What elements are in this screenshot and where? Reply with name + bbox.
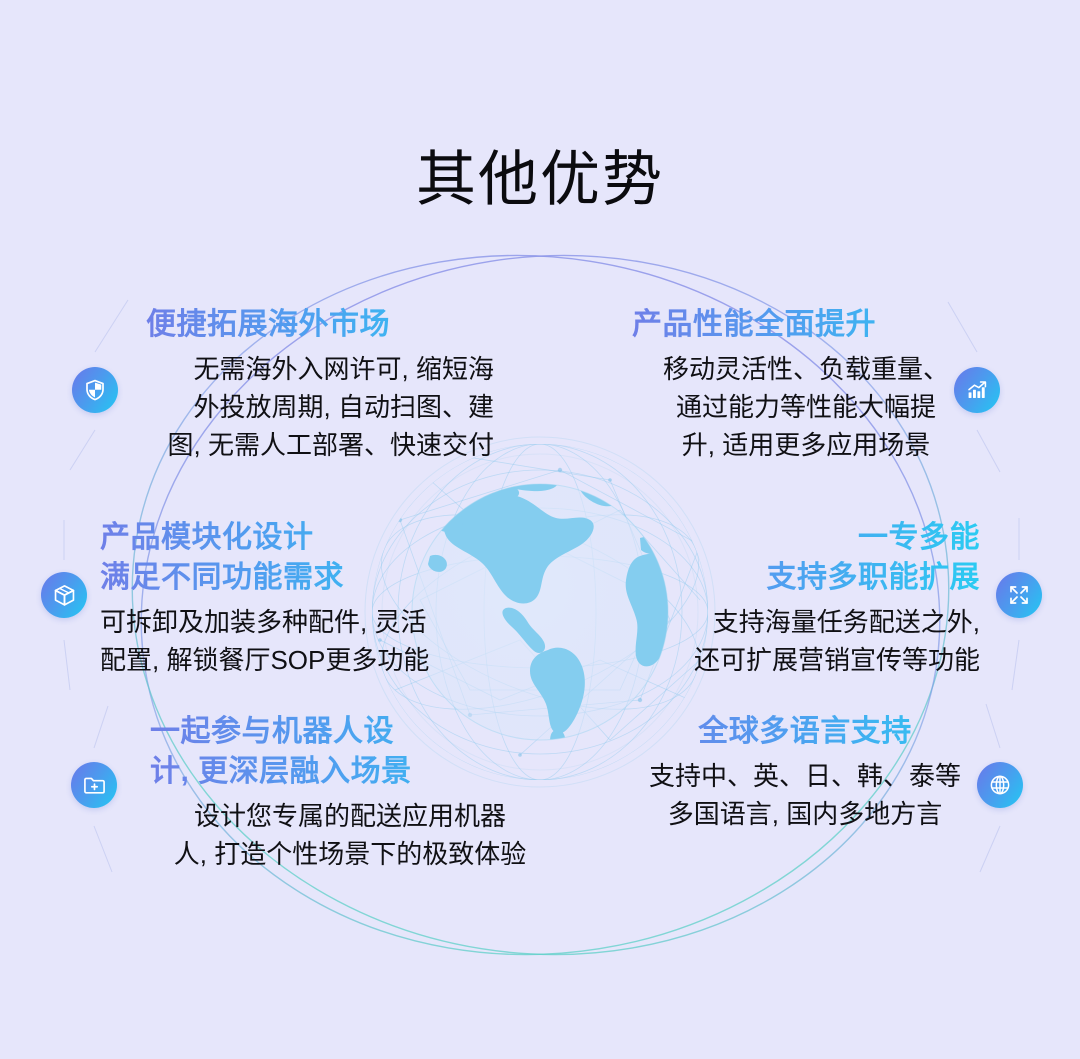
growth-chart-icon[interactable]	[954, 367, 1000, 413]
feature-heading-modular-line2: 满足不同功能需求	[100, 558, 460, 598]
feature-body-line: 升, 适用更多应用场景	[632, 426, 980, 464]
feature-body-codesign: 设计您专属的配送应用机器 人, 打造个性场景下的极致体验	[150, 797, 550, 873]
feature-block-performance: 产品性能全面提升 移动灵活性、负载重量、 通过能力等性能大幅提 升, 适用更多应…	[632, 305, 980, 464]
feature-body-line: 多国语言, 国内多地方言	[630, 795, 980, 833]
feature-heading-language: 全球多语言支持	[630, 712, 980, 752]
feature-block-multifunction: 一专多能 支持多职能扩展 支持海量任务配送之外, 还可扩展营销宣传等功能	[620, 518, 980, 679]
feature-body-line: 支持中、英、日、韩、泰等	[630, 757, 980, 795]
feature-body-line: 通过能力等性能大幅提	[632, 388, 980, 426]
feature-heading-multifunction-line1: 一专多能	[620, 518, 980, 558]
feature-body-line: 配置, 解锁餐厅SOP更多功能	[100, 641, 460, 679]
feature-block-modular: 产品模块化设计 满足不同功能需求 可拆卸及加装多种配件, 灵活 配置, 解锁餐厅…	[100, 518, 460, 679]
feature-heading-codesign-line1: 一起参与机器人设	[150, 712, 550, 752]
feature-body-line: 支持海量任务配送之外,	[620, 603, 980, 641]
infographic-canvas: 其他优势 便捷拓展海外市场 无需海外入网许可, 缩短海 外投放周期, 自动扫图、…	[0, 0, 1080, 1059]
feature-heading-modular-line1: 产品模块化设计	[100, 518, 460, 558]
feature-body-performance: 移动灵活性、负载重量、 通过能力等性能大幅提 升, 适用更多应用场景	[632, 350, 980, 464]
feature-body-line: 可拆卸及加装多种配件, 灵活	[100, 603, 460, 641]
feature-body-line: 设计您专属的配送应用机器	[150, 797, 550, 835]
feature-heading-performance: 产品性能全面提升	[632, 305, 980, 345]
feature-body-modular: 可拆卸及加装多种配件, 灵活 配置, 解锁餐厅SOP更多功能	[100, 603, 460, 679]
shield-icon[interactable]	[72, 367, 118, 413]
feature-body-line: 人, 打造个性场景下的极致体验	[150, 835, 550, 873]
feature-block-overseas: 便捷拓展海外市场 无需海外入网许可, 缩短海 外投放周期, 自动扫图、建 图, …	[146, 305, 494, 464]
page-title: 其他优势	[0, 144, 1080, 216]
feature-heading-multifunction-line2: 支持多职能扩展	[620, 558, 980, 598]
feature-heading-codesign-line2: 计, 更深层融入场景	[150, 752, 550, 792]
feature-body-line: 移动灵活性、负载重量、	[632, 350, 980, 388]
expand-arrows-icon[interactable]	[996, 572, 1042, 618]
feature-body-language: 支持中、英、日、韩、泰等 多国语言, 国内多地方言	[630, 757, 980, 833]
feature-body-line: 还可扩展营销宣传等功能	[620, 641, 980, 679]
feature-body-multifunction: 支持海量任务配送之外, 还可扩展营销宣传等功能	[620, 603, 980, 679]
feature-body-line: 外投放周期, 自动扫图、建	[146, 388, 494, 426]
globe-icon[interactable]	[977, 762, 1023, 808]
feature-block-language: 全球多语言支持 支持中、英、日、韩、泰等 多国语言, 国内多地方言	[630, 712, 980, 833]
feature-block-codesign: 一起参与机器人设 计, 更深层融入场景 设计您专属的配送应用机器 人, 打造个性…	[150, 712, 550, 873]
folder-plus-icon[interactable]	[71, 762, 117, 808]
feature-body-line: 图, 无需人工部署、快速交付	[146, 426, 494, 464]
cube-icon[interactable]	[41, 572, 87, 618]
feature-body-line: 无需海外入网许可, 缩短海	[146, 350, 494, 388]
feature-body-overseas: 无需海外入网许可, 缩短海 外投放周期, 自动扫图、建 图, 无需人工部署、快速…	[146, 350, 494, 464]
feature-heading-overseas: 便捷拓展海外市场	[146, 305, 494, 345]
